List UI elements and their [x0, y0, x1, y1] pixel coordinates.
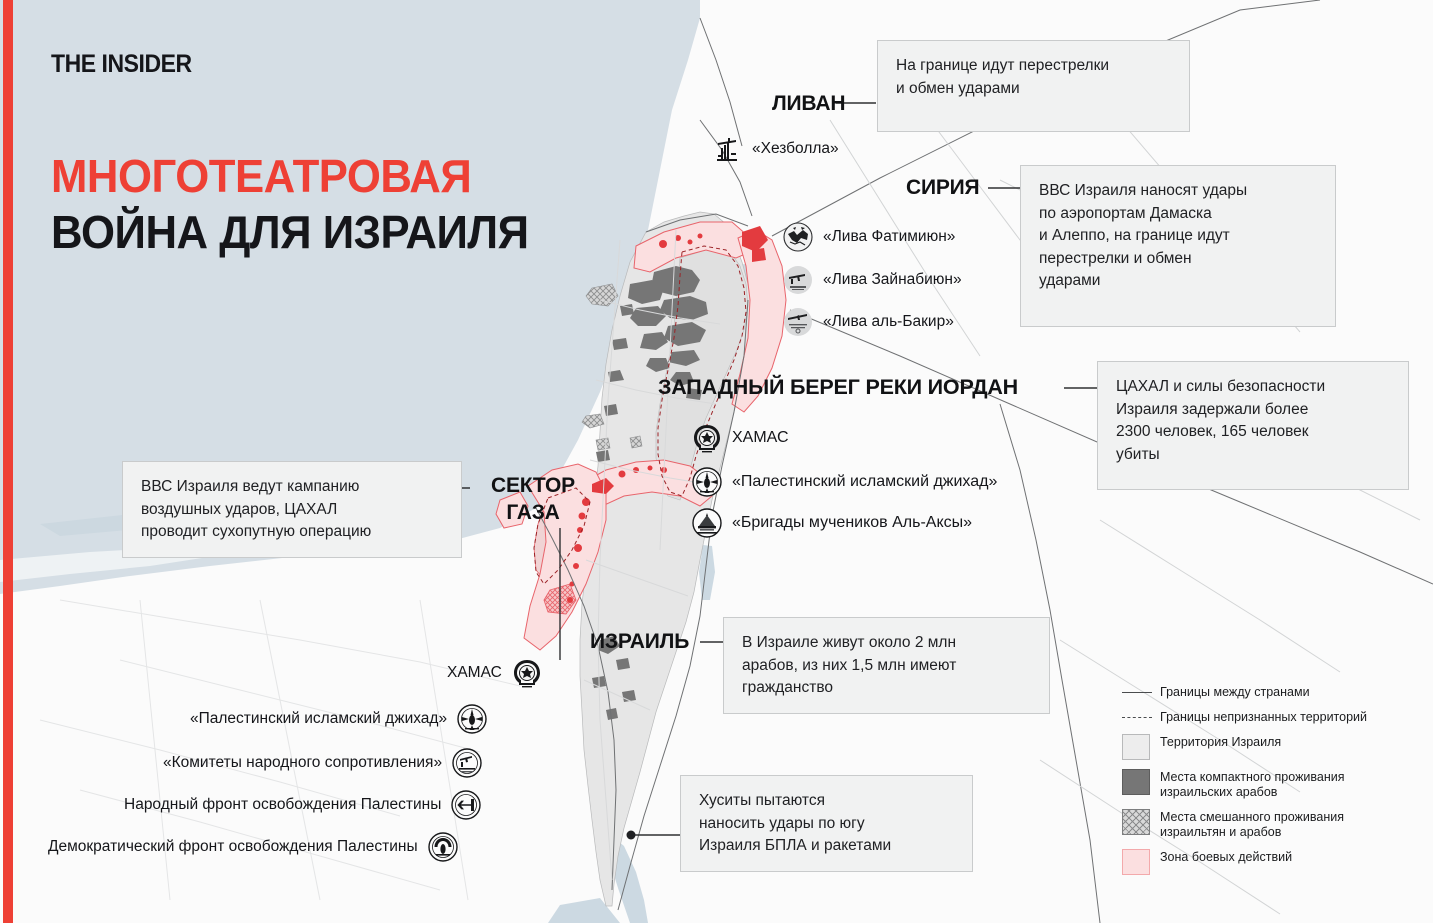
- callout-lebanon: На границе идут перестрелки и обмен удар…: [877, 40, 1190, 132]
- group-label: Демократический фронт освобождения Палес…: [48, 838, 418, 856]
- group-label: «Палестинский исламский джихад»: [190, 710, 447, 728]
- hamas-emblem-icon: [692, 423, 722, 453]
- group-label: «Лива Зайнабиюн»: [823, 271, 962, 289]
- group-row-al-aqsa-westbank: «Бригады мучеников Аль-Аксы»: [692, 508, 972, 538]
- legend-label: Границы непризнанных территорий: [1160, 709, 1367, 725]
- page-title: МНОГОТЕАТРОВАЯ ВОЙНА ДЛЯ ИЗРАИЛЯ: [51, 148, 651, 260]
- pflp-emblem-icon: [451, 790, 481, 820]
- eilat-marker-dot: [627, 831, 636, 840]
- group-row-hamas-westbank: ХАМАС: [692, 423, 789, 453]
- infographic-root: THE INSIDER МНОГОТЕАТРОВАЯ ВОЙНА ДЛЯ ИЗР…: [0, 0, 1433, 923]
- hamas-emblem-icon: [512, 658, 542, 688]
- liwa-fatemiyoun-emblem-icon: [783, 222, 813, 252]
- callout-houthi: Хуситы пытаются наносить удары по югу Из…: [680, 775, 973, 872]
- group-row-prc-gaza: «Комитеты народного сопротивления»: [163, 748, 482, 778]
- label-israel: ИЗРАИЛЬ: [590, 630, 689, 654]
- liwa-zainabiyoun-emblem-icon: [783, 265, 813, 295]
- group-label: «Хезболла»: [752, 140, 839, 158]
- group-row-fatemiyoun: «Лива Фатимиюн»: [783, 222, 955, 252]
- legend-row-country-borders: Границы между странами: [1122, 684, 1422, 700]
- callout-gaza: ВВС Израиля ведут кампанию воздушных уда…: [122, 461, 462, 558]
- group-row-pij-westbank: «Палестинский исламский джихад»: [692, 467, 997, 497]
- pij-emblem-icon: [457, 704, 487, 734]
- dashed-line-icon: [1122, 709, 1160, 718]
- legend-row-unrecognized-borders: Границы непризнанных территорий: [1122, 709, 1422, 725]
- legend-row-arab-compact: Места компактного проживания израильских…: [1122, 769, 1422, 800]
- label-west-bank: ЗАПАДНЫЙ БЕРЕГ РЕКИ ИОРДАН: [658, 375, 1018, 400]
- swatch-war-icon: [1122, 849, 1160, 875]
- label-lebanon: ЛИВАН: [772, 92, 845, 116]
- solid-line-icon: [1122, 684, 1160, 693]
- legend-row-war-zone: Зона боевых действий: [1122, 849, 1422, 875]
- group-label: ХАМАС: [732, 429, 789, 447]
- group-row-hamas-gaza: ХАМАС: [447, 658, 542, 688]
- legend-label: Территория Израиля: [1160, 734, 1281, 750]
- legend-label: Границы между странами: [1160, 684, 1310, 700]
- group-label: «Палестинский исламский джихад»: [732, 473, 997, 491]
- group-label: «Лива Фатимиюн»: [823, 228, 955, 246]
- group-label: «Бригады мучеников Аль-Аксы»: [732, 514, 972, 532]
- group-label: «Лива аль-Бакир»: [823, 313, 954, 331]
- headline-line-1: МНОГОТЕАТРОВАЯ: [51, 148, 621, 204]
- callout-syria: ВВС Израиля наносят удары по аэропортам …: [1020, 165, 1336, 327]
- callout-west-bank: ЦАХАЛ и силы безопасности Израиля задерж…: [1097, 361, 1409, 490]
- liwa-al-baqir-emblem-icon: [783, 307, 813, 337]
- legend-row-israel-territory: Территория Израиля: [1122, 734, 1422, 760]
- swatch-mixed-icon: [1122, 809, 1160, 835]
- accent-bar: [3, 0, 13, 923]
- group-row-zainabiyoun: «Лива Зайнабиюн»: [783, 265, 962, 295]
- label-syria: СИРИЯ: [906, 176, 979, 200]
- swatch-israel-icon: [1122, 734, 1160, 760]
- headline-line-2: ВОЙНА ДЛЯ ИЗРАИЛЯ: [51, 204, 621, 260]
- legend-label: Места смешанного проживания израильтян и…: [1160, 809, 1344, 840]
- group-row-pflp-gaza: Народный фронт освобождения Палестины: [124, 790, 481, 820]
- hezbollah-emblem-icon: [712, 134, 742, 164]
- prc-emblem-icon: [452, 748, 482, 778]
- legend-label: Места компактного проживания израильских…: [1160, 769, 1345, 800]
- label-gaza: СЕКТОР ГАЗА: [483, 472, 583, 526]
- legend-label: Зона боевых действий: [1160, 849, 1292, 865]
- group-label: Народный фронт освобождения Палестины: [124, 796, 441, 814]
- group-label: ХАМАС: [447, 664, 502, 682]
- brand-logo: THE INSIDER: [51, 50, 192, 79]
- group-label: «Комитеты народного сопротивления»: [163, 754, 442, 772]
- group-row-al-baqir: «Лива аль-Бакир»: [783, 307, 954, 337]
- callout-israel: В Израиле живут около 2 млн арабов, из н…: [723, 617, 1050, 714]
- al-aqsa-martyrs-emblem-icon: [692, 508, 722, 538]
- group-row-dflp-gaza: Демократический фронт освобождения Палес…: [48, 832, 458, 862]
- swatch-arab-icon: [1122, 769, 1160, 795]
- pij-emblem-icon: [692, 467, 722, 497]
- legend-row-mixed: Места смешанного проживания израильтян и…: [1122, 809, 1422, 840]
- dflp-emblem-icon: [428, 832, 458, 862]
- group-row-hezbollah: «Хезболла»: [712, 134, 839, 164]
- group-row-pij-gaza: «Палестинский исламский джихад»: [190, 704, 487, 734]
- map-legend: Границы между странами Границы непризнан…: [1122, 684, 1422, 884]
